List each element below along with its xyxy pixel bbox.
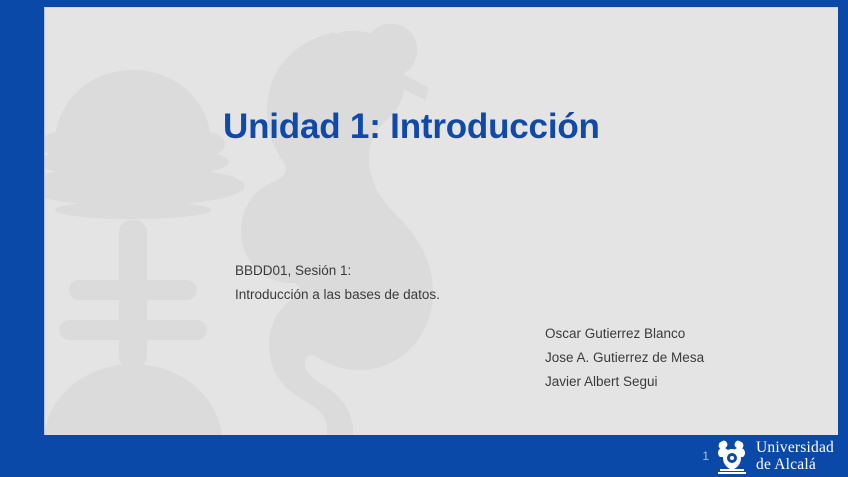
university-wordmark: Universidad de Alcalá (756, 439, 834, 473)
author-list: Oscar Gutierrez Blanco Jose A. Gutierrez… (545, 322, 704, 394)
presentation-slide: Unidad 1: Introducción BBDD01, Sesión 1:… (0, 0, 848, 477)
author-name: Oscar Gutierrez Blanco (545, 322, 704, 346)
author-name: Jose A. Gutierrez de Mesa (545, 346, 704, 370)
page-number: 1 (702, 450, 709, 462)
slide-content-panel: Unidad 1: Introducción BBDD01, Sesión 1:… (44, 7, 838, 435)
slide-subtitle: BBDD01, Sesión 1: Introducción a las bas… (235, 259, 440, 307)
page-title: Unidad 1: Introducción (223, 108, 823, 147)
slide-frame-left (0, 0, 43, 477)
wordmark-line-2: de Alcalá (756, 456, 834, 473)
wordmark-line-1: Universidad (756, 439, 834, 456)
university-crest-icon (715, 438, 749, 474)
subtitle-line-1: BBDD01, Sesión 1: (235, 259, 440, 283)
subtitle-line-2: Introducción a las bases de datos. (235, 283, 440, 307)
university-crest-watermark-icon (44, 7, 455, 435)
slide-frame-right (839, 0, 848, 477)
slide-frame-top (0, 0, 848, 6)
slide-footer: 1 Universidad (0, 435, 848, 477)
author-name: Javier Albert Segui (545, 370, 704, 394)
